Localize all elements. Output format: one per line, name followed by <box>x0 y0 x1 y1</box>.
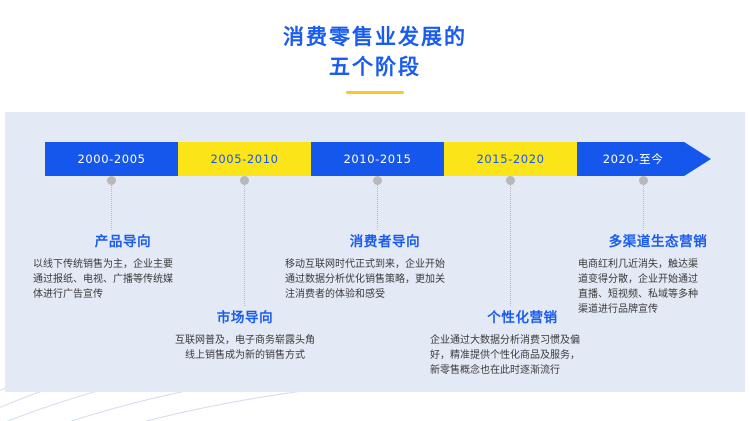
timeline-segment-2[interactable]: 2005-2010 <box>178 142 311 176</box>
timeline-arrow: 2000-2005 2005-2010 2010-2015 2015-2020 … <box>45 142 712 176</box>
stage-3-body-line-2: 通过数据分析优化销售策略，更加关 <box>285 272 485 287</box>
connector-line-3 <box>377 184 379 230</box>
stage-3-body-line-3: 注消费者的体验和感受 <box>285 287 485 302</box>
page-title-line-1: 消费零售业发展的 <box>0 22 750 52</box>
stage-4-body-line-1: 企业通过大数据分析消费习惯及偏 <box>430 333 615 348</box>
timeline-segment-3[interactable]: 2010-2015 <box>311 142 444 176</box>
title-underline <box>346 91 404 94</box>
stage-1-body-line-3: 体进行广告宣传 <box>33 287 213 302</box>
timeline-segment-5-label: 2020-至今 <box>603 151 664 167</box>
stage-2-body-line-1: 互联网普及，电子商务崭露头角 <box>165 333 325 348</box>
stage-2-body: 互联网普及，电子商务崭露头角 线上销售成为新的销售方式 <box>165 333 325 363</box>
timeline-segment-1-label: 2000-2005 <box>77 152 145 166</box>
stage-1-body-line-1: 以线下传统销售为主，企业主要 <box>33 257 213 272</box>
connector-line-4 <box>510 184 512 306</box>
timeline-segment-4[interactable]: 2015-2020 <box>444 142 577 176</box>
stage-3-body-line-1: 移动互联网时代正式到来，企业开始 <box>285 257 485 272</box>
timeline-segment-2-label: 2005-2010 <box>210 152 278 166</box>
stage-block-3: 消费者导向 移动互联网时代正式到来，企业开始 通过数据分析优化销售策略，更加关 … <box>285 230 485 302</box>
stage-1-body: 以线下传统销售为主，企业主要 通过报纸、电视、广播等传统媒 体进行广告宣传 <box>33 257 213 302</box>
timeline-segment-5[interactable]: 2020-至今 <box>577 142 711 176</box>
stage-4-body-line-3: 新零售概念也在此时逐渐流行 <box>430 363 615 378</box>
page-title: 消费零售业发展的 五个阶段 <box>0 22 750 94</box>
stage-4-body: 企业通过大数据分析消费习惯及偏 好，精准提供个性化商品及服务， 新零售概念也在此… <box>430 333 615 378</box>
stage-5-heading: 多渠道生态营销 <box>578 230 738 250</box>
stage-1-body-line-2: 通过报纸、电视、广播等传统媒 <box>33 272 213 287</box>
connector-line-5 <box>643 184 645 230</box>
stage-5-body-line-2: 道变得分散，企业开始通过 <box>578 272 738 287</box>
page-title-line-2: 五个阶段 <box>0 52 750 82</box>
stage-block-2: 市场导向 互联网普及，电子商务崭露头角 线上销售成为新的销售方式 <box>165 306 325 363</box>
connector-line-2 <box>244 184 246 306</box>
stage-2-heading: 市场导向 <box>165 306 325 326</box>
timeline-segment-4-label: 2015-2020 <box>476 152 544 166</box>
stage-5-body-line-1: 电商红利几近消失，触达渠 <box>578 257 738 272</box>
stage-5-body-line-3: 直播、短视频、私域等多种 <box>578 287 738 302</box>
connector-line-1 <box>111 184 113 230</box>
stage-4-body-line-2: 好，精准提供个性化商品及服务， <box>430 348 615 363</box>
stage-5-body-line-4: 渠道进行品牌宣传 <box>578 302 738 317</box>
timeline-segment-1[interactable]: 2000-2005 <box>45 142 178 176</box>
stage-3-heading: 消费者导向 <box>285 230 485 250</box>
stage-5-body: 电商红利几近消失，触达渠 道变得分散，企业开始通过 直播、短视频、私域等多种 渠… <box>578 257 738 317</box>
stage-block-1: 产品导向 以线下传统销售为主，企业主要 通过报纸、电视、广播等传统媒 体进行广告… <box>33 230 213 302</box>
stage-block-5: 多渠道生态营销 电商红利几近消失，触达渠 道变得分散，企业开始通过 直播、短视频… <box>578 230 738 317</box>
stage-3-body: 移动互联网时代正式到来，企业开始 通过数据分析优化销售策略，更加关 注消费者的体… <box>285 257 485 302</box>
timeline-segment-3-label: 2010-2015 <box>343 152 411 166</box>
stage-1-heading: 产品导向 <box>33 230 213 250</box>
stage-2-body-line-2: 线上销售成为新的销售方式 <box>165 348 325 363</box>
